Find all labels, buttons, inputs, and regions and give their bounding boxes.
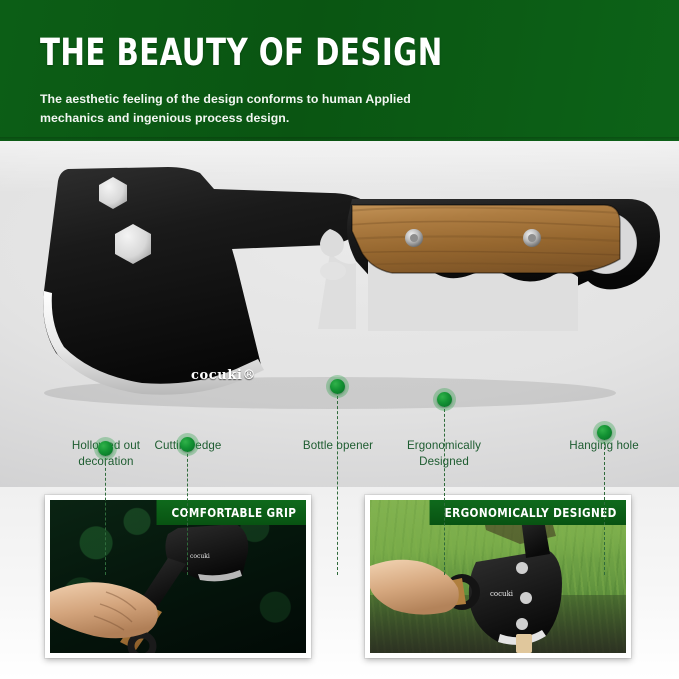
svg-text:cocuki: cocuki [490, 590, 514, 598]
leader-ergonomically-designed [444, 404, 445, 575]
product-stage: cocuki® Hollowed out decoration Cutting … [0, 141, 679, 487]
page-subtitle: The aesthetic feeling of the design conf… [40, 90, 470, 128]
photo-banner-ergonomically-designed: ERGONOMICALLY DESIGNED [429, 500, 626, 525]
header-banner: THE BEAUTY OF DESIGN The aesthetic feeli… [0, 0, 679, 141]
svg-text:cocuki: cocuki [190, 553, 210, 560]
callout-labels: Hollowed out decoration Cutting edge Bot… [0, 141, 679, 487]
leader-cutting-edge [187, 449, 188, 575]
callout-line1: Bottle opener [288, 438, 388, 454]
photo-banner-text: ERGONOMICALLY DESIGNED [444, 505, 616, 520]
marker-bottle-opener[interactable] [330, 379, 345, 394]
photo-banner-comfortable-grip: COMFORTABLE GRIP [157, 500, 306, 525]
leader-hollowed-out-decoration [105, 453, 106, 575]
marker-hanging-hole[interactable] [597, 425, 612, 440]
marker-hollowed-out-decoration[interactable] [98, 441, 113, 456]
infographic-page: THE BEAUTY OF DESIGN The aesthetic feeli… [0, 0, 679, 679]
photo-gallery: cocuki COMFORTABLE GRIP [0, 487, 679, 679]
marker-ergonomically-designed[interactable] [437, 392, 452, 407]
photo-comfortable-grip[interactable]: cocuki COMFORTABLE GRIP [45, 495, 311, 658]
marker-cutting-edge[interactable] [180, 437, 195, 452]
photo-banner-text: COMFORTABLE GRIP [172, 505, 297, 520]
leader-hanging-hole [604, 437, 605, 575]
callout-label-bottle-opener: Bottle opener [288, 438, 388, 454]
page-title: THE BEAUTY OF DESIGN [40, 33, 443, 73]
photo-ergonomically-designed[interactable]: cocuki ERGONOMICALLY DESIGNED [365, 495, 631, 658]
leader-bottle-opener [337, 391, 338, 575]
